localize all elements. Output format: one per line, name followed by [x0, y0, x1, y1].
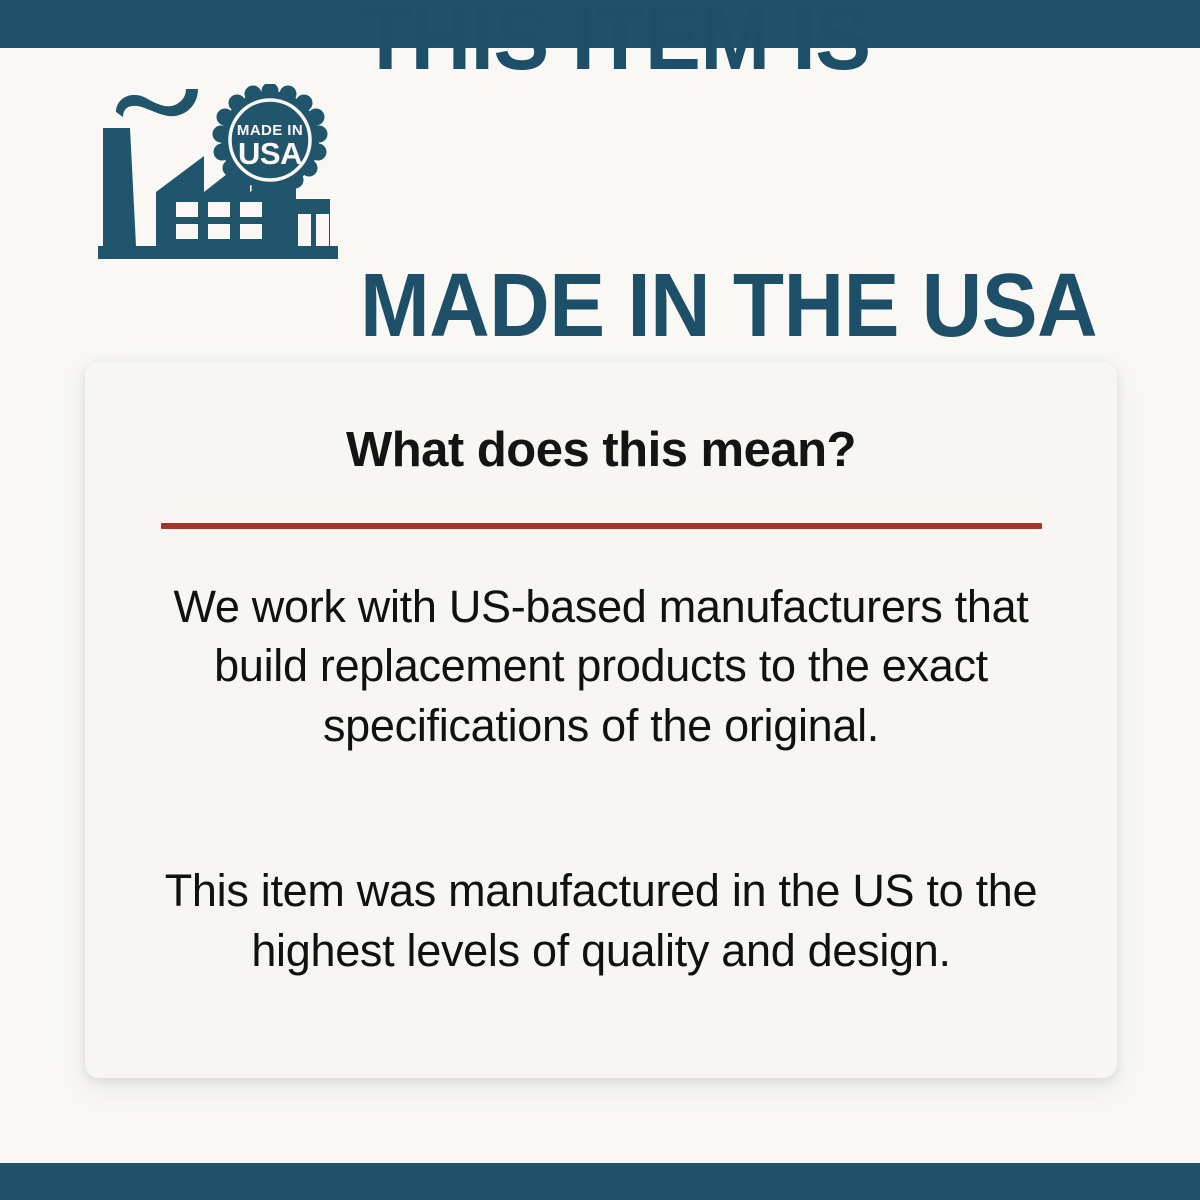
title-divider [161, 523, 1042, 529]
factory-base-shape [98, 246, 338, 259]
card-paragraph-1: We work with US-based manufacturers that… [151, 577, 1051, 755]
card-title: What does this mean? [85, 422, 1117, 478]
badge-line-2: USA [238, 136, 302, 171]
header: MADE IN USA THIS ITEM IS MADE IN THE USA [0, 48, 1200, 298]
smoke-shape [116, 89, 198, 117]
factory-icon: MADE IN USA [98, 84, 338, 269]
bottom-accent-band [0, 1163, 1200, 1200]
headline-line-2: MADE IN THE USA [360, 262, 1097, 351]
window-icon [208, 224, 230, 239]
chimney-shape [103, 128, 136, 246]
window-icon [176, 202, 198, 217]
window-icon [176, 224, 198, 239]
headline-line-1: THIS ITEM IS [360, 0, 1097, 84]
window-icon [208, 202, 230, 217]
window-icon [240, 202, 262, 217]
card-paragraph-2: This item was manufactured in the US to … [151, 861, 1051, 980]
door-panel-icon [316, 214, 329, 246]
door-panel-icon [298, 214, 311, 246]
window-icon [240, 224, 262, 239]
page-root: MADE IN USA THIS ITEM IS MADE IN THE USA… [0, 0, 1200, 1200]
info-card: What does this mean? We work with US-bas… [85, 362, 1117, 1078]
